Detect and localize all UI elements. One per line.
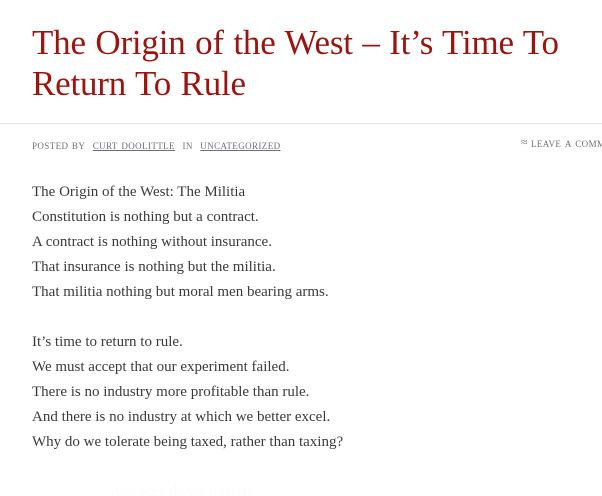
leave-a-comment-label: Leave a comment bbox=[531, 136, 602, 150]
clipped-next-line: And why do we tolerate bbox=[32, 480, 570, 496]
speech-bubble-icon: ≈ bbox=[521, 135, 528, 150]
article-meta: Posted by Curt Doolittle in Uncategorize… bbox=[0, 124, 602, 154]
content-line: And there is no industry at which we bet… bbox=[32, 405, 570, 430]
meta-posted-by-label: Posted by bbox=[32, 138, 85, 152]
content-line: We must accept that our experiment faile… bbox=[32, 355, 570, 380]
content-line: It’s time to return to rule. bbox=[32, 330, 570, 355]
meta-author-link[interactable]: Curt Doolittle bbox=[93, 138, 175, 152]
content-line: The Origin of the West: The Militia bbox=[32, 180, 570, 205]
content-line: A contract is nothing without insurance. bbox=[32, 230, 570, 255]
meta-category-link[interactable]: Uncategorized bbox=[200, 138, 280, 152]
meta-in-label: in bbox=[182, 138, 192, 152]
stanza-one: The Origin of the West: The Militia Cons… bbox=[32, 180, 570, 305]
article-header: The Origin of the West – It’s Time To Re… bbox=[0, 0, 602, 105]
content-line: That militia nothing but moral men beari… bbox=[32, 280, 570, 305]
article-content: The Origin of the West: The Militia Cons… bbox=[0, 154, 602, 496]
leave-a-comment-link[interactable]: ≈Leave a comment bbox=[521, 136, 602, 151]
stanza-two: It’s time to return to rule. We must acc… bbox=[32, 330, 570, 455]
content-line: There is no industry more profitable tha… bbox=[32, 380, 570, 405]
page-title: The Origin of the West – It’s Time To Re… bbox=[32, 22, 570, 105]
content-line: Why do we tolerate being taxed, rather t… bbox=[32, 430, 570, 455]
article-page: The Origin of the West – It’s Time To Re… bbox=[0, 0, 602, 496]
content-line: Constitution is nothing but a contract. bbox=[32, 205, 570, 230]
content-line: That insurance is nothing but the militi… bbox=[32, 255, 570, 280]
